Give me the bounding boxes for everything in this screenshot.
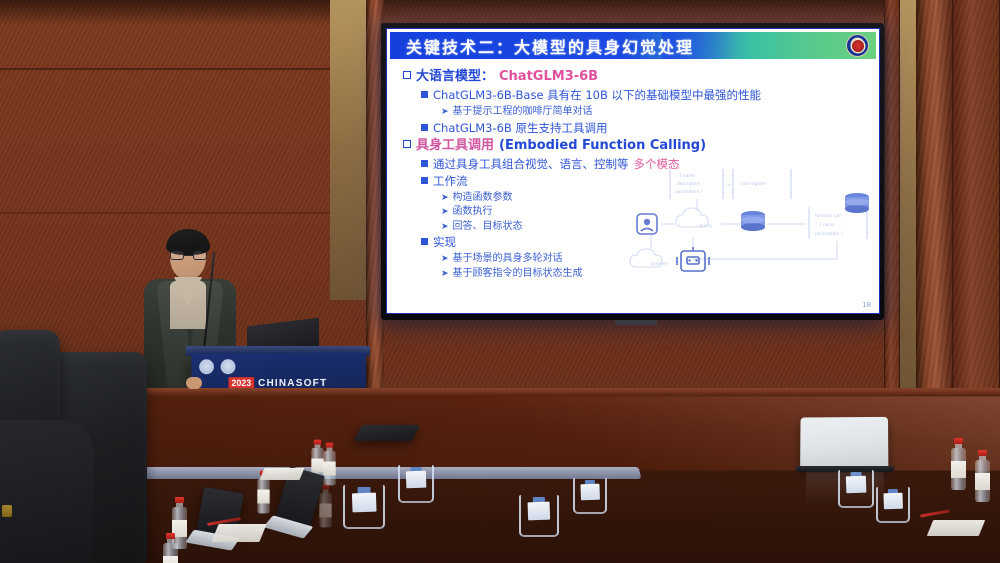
- filled-square-bullet-icon: [421, 91, 428, 98]
- speaker-hand: [186, 377, 202, 389]
- nameplate-card: [580, 484, 599, 500]
- hollow-square-bullet-icon: [403, 140, 411, 148]
- podium-emblems: [199, 359, 235, 374]
- wall-light-strip: [330, 0, 370, 300]
- open-laptop: [354, 425, 421, 441]
- macbook-reflection: [806, 472, 884, 506]
- bottle-label: [163, 556, 178, 563]
- bullet-text: 工作流: [433, 174, 468, 189]
- bullet-text: 回答、目标状态: [453, 220, 523, 234]
- chair-badge-icon: [2, 505, 12, 517]
- paper-document: [927, 520, 985, 536]
- svg-text:parameters }: parameters }: [675, 189, 704, 194]
- paper-document: [211, 524, 266, 542]
- bullet-text: 函数执行: [453, 205, 493, 219]
- bullet-text: 实现: [433, 235, 456, 250]
- bottle-body: [951, 448, 966, 490]
- slide-title: 关键技术二：大模型的具身幻觉处理: [390, 34, 694, 58]
- slide-page-number: 18: [862, 301, 871, 309]
- nameplate-card: [406, 471, 426, 488]
- slide-bullet-l3: ➤ 基于提示工程的咖啡厅简单对话: [441, 105, 869, 119]
- organization-emblem-icon: [221, 359, 236, 374]
- glasses-left-lens: [170, 251, 184, 260]
- bottle-label: [975, 473, 990, 490]
- bullet-text: ChatGLM3-6B-Base 具有在 10B 以下的基础模型中最强的性能: [433, 88, 761, 103]
- nameplate-card: [528, 502, 551, 521]
- bottle-label: [319, 504, 331, 518]
- arrow-bullet-icon: ➤: [441, 106, 449, 118]
- bottle-body: [257, 479, 269, 513]
- arrow-bullet-icon: ➤: [441, 268, 449, 280]
- filled-square-bullet-icon: [421, 177, 428, 184]
- user-icon: [637, 214, 657, 234]
- svg-text:{ name: { name: [819, 222, 835, 227]
- function-calling-flow-diagram: { name description parameters } tool reg…: [623, 167, 873, 275]
- water-bottle: [951, 438, 966, 490]
- nameplate-card: [352, 492, 376, 512]
- university-seal-logo: [846, 34, 869, 57]
- hollow-square-bullet-icon: [403, 71, 411, 79]
- display-stand: [615, 320, 657, 325]
- filled-square-bullet-icon: [421, 160, 428, 167]
- bottle-label: [951, 461, 966, 478]
- paper-document: [260, 468, 305, 480]
- slide-bullet-l2: ChatGLM3-6B 原生支持工具调用: [421, 121, 869, 136]
- slide-body: 大语言模型： ChatGLM3-6B ChatGLM3-6B-Base 具有在 …: [387, 59, 879, 313]
- water-bottle: [975, 450, 990, 502]
- bullet-text: 大语言模型：: [416, 69, 494, 85]
- bullet-text: 基于场景的具身多轮对话: [453, 252, 563, 266]
- nameplate-holder: [519, 495, 559, 537]
- water-bottle: [323, 443, 335, 486]
- organization-emblem-icon: [199, 359, 214, 374]
- bullet-text: (Embodied Function Calling): [499, 138, 706, 154]
- bullet-text: 基于提示工程的咖啡厅简单对话: [453, 105, 593, 119]
- nameplate-holder: [398, 465, 434, 503]
- slide-title-bar: 关键技术二：大模型的具身幻觉处理: [390, 32, 876, 59]
- water-bottle-reflection: [319, 485, 331, 528]
- slide-bullet-l1: 具身工具调用 (Embodied Function Calling): [403, 138, 869, 154]
- bullet-text: 构造函数参数: [453, 191, 513, 205]
- table-front-lip: [117, 467, 641, 479]
- seal-inner-circle: [852, 40, 864, 52]
- svg-text:tool register: tool register: [741, 181, 767, 186]
- microphone-head-icon: [199, 244, 208, 253]
- coat-on-chair: [0, 420, 93, 563]
- slide-bullet-l1: 大语言模型： ChatGLM3-6B: [403, 69, 869, 85]
- presentation-display: 关键技术二：大模型的具身幻觉处理 大语言模型： ChatGLM3-6B: [381, 23, 884, 320]
- arrow-bullet-icon: ➤: [441, 221, 449, 233]
- bottle-label: [323, 462, 335, 476]
- slide-surface: 关键技术二：大模型的具身幻觉处理 大语言模型： ChatGLM3-6B: [386, 28, 880, 314]
- svg-text:{ name: { name: [679, 173, 695, 178]
- bottle-label: [311, 459, 323, 473]
- bottle-body: [975, 460, 990, 502]
- arrow-bullet-icon: ➤: [441, 253, 449, 265]
- bottle-body: [163, 543, 178, 563]
- podium-brand-en: CHINASOFT: [258, 377, 327, 388]
- bottle-body: [319, 493, 331, 527]
- arrow-bullet-icon: ➤: [441, 206, 449, 218]
- presentation-slide: 关键技术二：大模型的具身幻觉处理 大语言模型： ChatGLM3-6B: [387, 32, 879, 314]
- glasses-bridge: [184, 255, 193, 256]
- database-icon: [845, 193, 869, 213]
- bullet-text-accent: 具身工具调用: [416, 138, 494, 154]
- svg-text:description: description: [677, 181, 701, 186]
- svg-text:parameters }: parameters }: [815, 231, 844, 236]
- wall-pillar: [916, 0, 952, 420]
- bottle-label: [257, 490, 269, 504]
- slide-bullet-l2: ChatGLM3-6B-Base 具有在 10B 以下的基础模型中最强的性能: [421, 88, 869, 103]
- bullet-text: 基于顾客指令的目标状态生成: [453, 267, 583, 281]
- svg-text:function call: function call: [815, 213, 841, 218]
- bullet-text-accent: ChatGLM3-6B: [499, 69, 598, 85]
- nameplate-holder: [573, 478, 607, 514]
- filled-square-bullet-icon: [421, 238, 428, 245]
- macbook-laptop: [800, 417, 888, 469]
- bottle-body: [323, 451, 335, 485]
- bullet-text: ChatGLM3-6B 原生支持工具调用: [433, 121, 607, 136]
- water-bottle: [163, 533, 178, 563]
- conference-room-photo: 关键技术二：大模型的具身幻觉处理 大语言模型： ChatGLM3-6B: [0, 0, 1000, 563]
- database-icon: [741, 211, 765, 231]
- table-back-edge: [0, 388, 1000, 397]
- nameplate-card: [883, 493, 902, 509]
- arrow-bullet-icon: ➤: [441, 192, 449, 204]
- bullet-text: 通过具身工具组合视觉、语言、控制等: [433, 157, 629, 172]
- nameplate-holder: [343, 485, 385, 529]
- filled-square-bullet-icon: [421, 124, 428, 131]
